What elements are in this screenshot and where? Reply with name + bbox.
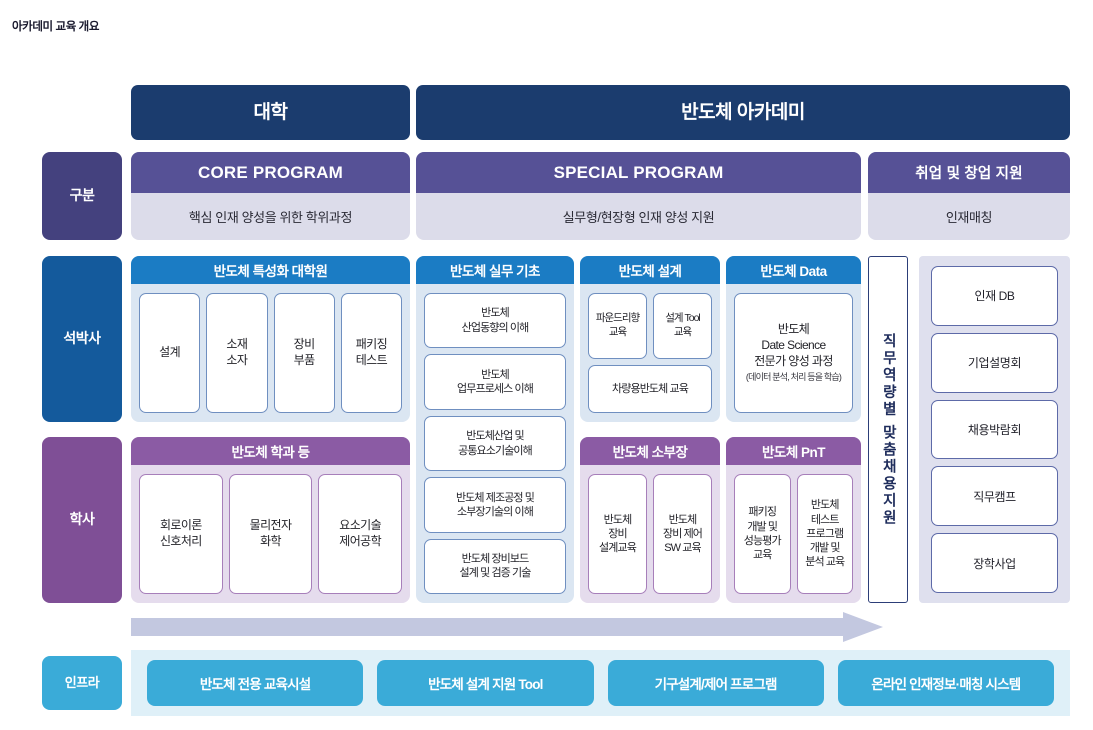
track-data-item-note: (데이터 분석, 처리 등을 학습) — [746, 372, 841, 384]
row-label-master-phd: 석박사 — [42, 256, 122, 422]
support-panel-item: 직무캠프 — [931, 466, 1058, 526]
track-pnt-items-item: 반도체테스트프로그램개발 및분석 교육 — [797, 474, 854, 594]
track-data: 반도체 Data 반도체Date Science전문가 양성 과정 (데이터 분… — [726, 256, 861, 422]
track-design-row1-item: 설계 Tool교육 — [653, 293, 712, 359]
track-department-items: 회로이론신호처리물리전자화학요소기술제어공학 — [131, 465, 410, 603]
track-grad-school-items: 설계소재소자장비부품패키징테스트 — [131, 284, 410, 422]
track-practice-basics-items-item: 반도체 장비보드설계 및 검증 기술 — [424, 539, 566, 594]
track-pnt-items-item: 패키징개발 및성능평가교육 — [734, 474, 791, 594]
org-header-semiconductor-academy: 반도체 아카데미 — [416, 85, 1070, 140]
program-special: SPECIAL PROGRAM 실무형/현장형 인재 양성 지원 — [416, 152, 861, 240]
track-sobujang-items: 반도체장비설계교육반도체장비 제어SW 교육 — [580, 465, 720, 603]
track-practice-basics-items: 반도체산업동향의 이해반도체업무프로세스 이해반도체산업 및공통요소기술이해반도… — [416, 284, 574, 603]
track-design-row1-item: 파운드리향교육 — [588, 293, 647, 359]
track-grad-school-items-item: 장비부품 — [274, 293, 335, 413]
track-grad-school-items-item: 패키징테스트 — [341, 293, 402, 413]
program-employment: 취업 및 창업 지원 인재매칭 — [868, 152, 1070, 240]
track-practice-basics: 반도체 실무 기초 반도체산업동향의 이해반도체업무프로세스 이해반도체산업 및… — [416, 256, 574, 603]
vertical-strip-job-matching: 직무역량별 맞춤채용지원 — [868, 256, 908, 603]
track-design-title: 반도체 설계 — [580, 256, 720, 284]
page-title: 아카데미 교육 개요 — [12, 18, 99, 34]
track-design-body: 파운드리향교육설계 Tool교육 차량용반도체 교육 — [580, 284, 720, 422]
infra-band: 반도체 전용 교육시설반도체 설계 지원 Tool기구설계/제어 프로그램온라인… — [131, 650, 1070, 716]
progression-arrow-icon — [131, 612, 883, 642]
track-sobujang-title: 반도체 소부장 — [580, 437, 720, 465]
program-core-title: CORE PROGRAM — [131, 152, 410, 193]
program-core-subtitle: 핵심 인재 양성을 위한 학위과정 — [131, 193, 410, 240]
track-department-items-item: 요소기술제어공학 — [318, 474, 402, 594]
row-label-bachelor: 학사 — [42, 437, 122, 603]
program-employment-title: 취업 및 창업 지원 — [868, 152, 1070, 193]
track-grad-school-items-item: 소재소자 — [206, 293, 267, 413]
infra-band-item: 반도체 전용 교육시설 — [147, 660, 363, 706]
track-pnt-title: 반도체 PnT — [726, 437, 861, 465]
track-department-items-item: 물리전자화학 — [229, 474, 313, 594]
track-data-body: 반도체Date Science전문가 양성 과정 (데이터 분석, 처리 등을 … — [726, 284, 861, 422]
track-grad-school: 반도체 특성화 대학원 설계소재소자장비부품패키징테스트 — [131, 256, 410, 422]
track-design-row2-item: 차량용반도체 교육 — [588, 365, 712, 413]
track-pnt: 반도체 PnT 패키징개발 및성능평가교육반도체테스트프로그램개발 및분석 교육 — [726, 437, 861, 603]
progression-arrow — [131, 612, 883, 642]
track-design-row2: 차량용반도체 교육 — [588, 365, 712, 413]
track-practice-basics-title: 반도체 실무 기초 — [416, 256, 574, 284]
infra-band-item: 온라인 인재정보·매칭 시스템 — [838, 660, 1054, 706]
program-employment-subtitle: 인재매칭 — [868, 193, 1070, 240]
track-data-title: 반도체 Data — [726, 256, 861, 284]
track-grad-school-title: 반도체 특성화 대학원 — [131, 256, 410, 284]
support-panel-item: 채용박람회 — [931, 400, 1058, 460]
track-design: 반도체 설계 파운드리향교육설계 Tool교육 차량용반도체 교육 — [580, 256, 720, 422]
infra-band-item: 반도체 설계 지원 Tool — [377, 660, 593, 706]
program-special-title: SPECIAL PROGRAM — [416, 152, 861, 193]
program-core: CORE PROGRAM 핵심 인재 양성을 위한 학위과정 — [131, 152, 410, 240]
track-department-items-item: 회로이론신호처리 — [139, 474, 223, 594]
track-grad-school-items-item: 설계 — [139, 293, 200, 413]
infra-band-item: 기구설계/제어 프로그램 — [608, 660, 824, 706]
row-label-gubun: 구분 — [42, 152, 122, 240]
vertical-strip-label: 직무역량별 맞춤채용지원 — [881, 333, 896, 527]
track-design-row1: 파운드리향교육설계 Tool교육 — [588, 293, 712, 359]
support-panel-item: 장학사업 — [931, 533, 1058, 593]
track-sobujang-items-item: 반도체장비 제어SW 교육 — [653, 474, 712, 594]
row-label-infra: 인프라 — [42, 656, 122, 710]
support-panel: 인재 DB기업설명회채용박람회직무캠프장학사업 — [919, 256, 1070, 603]
diagram-canvas: 아카데미 교육 개요 대학 반도체 아카데미 구분 CORE PROGRAM 핵… — [0, 0, 1093, 730]
track-practice-basics-items-item: 반도체산업동향의 이해 — [424, 293, 566, 348]
track-pnt-items: 패키징개발 및성능평가교육반도체테스트프로그램개발 및분석 교육 — [726, 465, 861, 603]
track-department: 반도체 학과 등 회로이론신호처리물리전자화학요소기술제어공학 — [131, 437, 410, 603]
track-sobujang-items-item: 반도체장비설계교육 — [588, 474, 647, 594]
org-header-university: 대학 — [131, 85, 410, 140]
track-practice-basics-items-item: 반도체업무프로세스 이해 — [424, 354, 566, 409]
program-special-subtitle: 실무형/현장형 인재 양성 지원 — [416, 193, 861, 240]
support-panel-item: 인재 DB — [931, 266, 1058, 326]
support-panel-item: 기업설명회 — [931, 333, 1058, 393]
track-data-item: 반도체Date Science전문가 양성 과정 (데이터 분석, 처리 등을 … — [734, 293, 853, 413]
track-department-title: 반도체 학과 등 — [131, 437, 410, 465]
track-practice-basics-items-item: 반도체산업 및공통요소기술이해 — [424, 416, 566, 471]
track-data-item-main: 반도체Date Science전문가 양성 과정 — [746, 322, 841, 369]
track-practice-basics-items-item: 반도체 제조공정 및소부장기술의 이해 — [424, 477, 566, 532]
track-sobujang: 반도체 소부장 반도체장비설계교육반도체장비 제어SW 교육 — [580, 437, 720, 603]
